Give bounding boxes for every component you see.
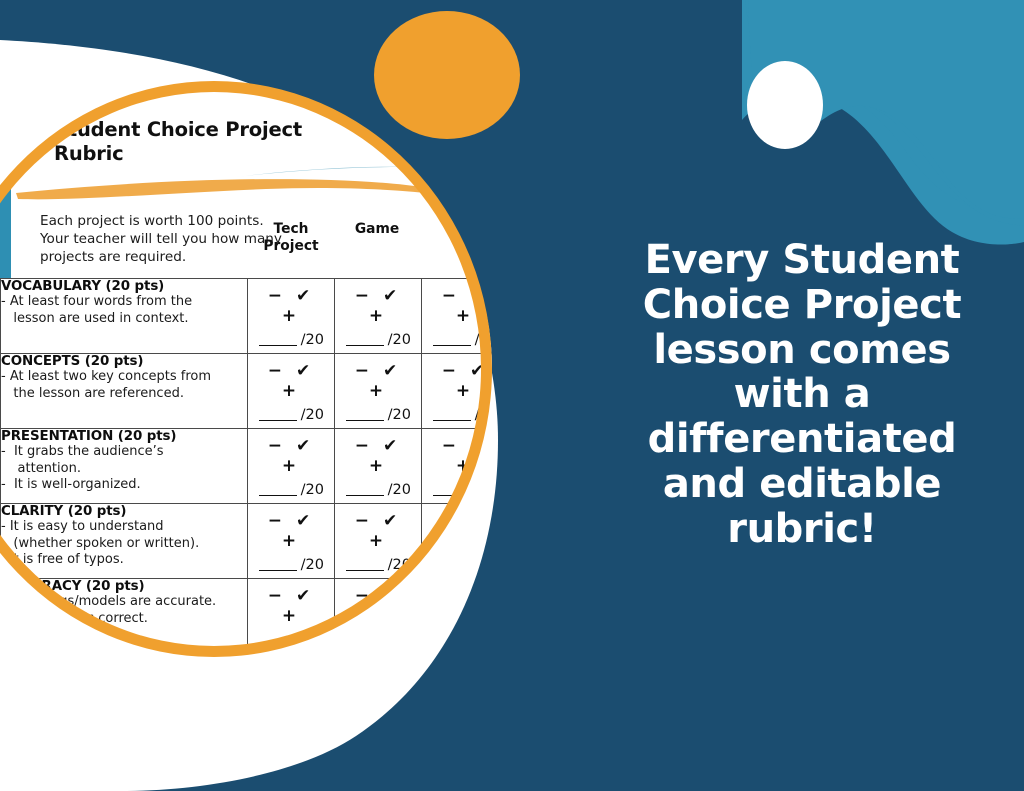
headline-line-7: rubric! (600, 507, 1004, 552)
headline-line-5: differentiated (600, 417, 1004, 462)
headline-line-2: Choice Project (600, 283, 1004, 328)
headline-line-6: and editable (600, 462, 1004, 507)
headline-text: Every Student Choice Project lesson come… (600, 238, 1004, 552)
slide-canvas: Student Choice Project Rubric Each proje… (0, 0, 1024, 791)
orange-circle-shape (374, 11, 520, 139)
white-circle-shape (747, 61, 823, 149)
headline-line-4: with a (600, 372, 1004, 417)
headline-line-1: Every Student (600, 238, 1004, 283)
headline-line-3: lesson comes (600, 328, 1004, 373)
